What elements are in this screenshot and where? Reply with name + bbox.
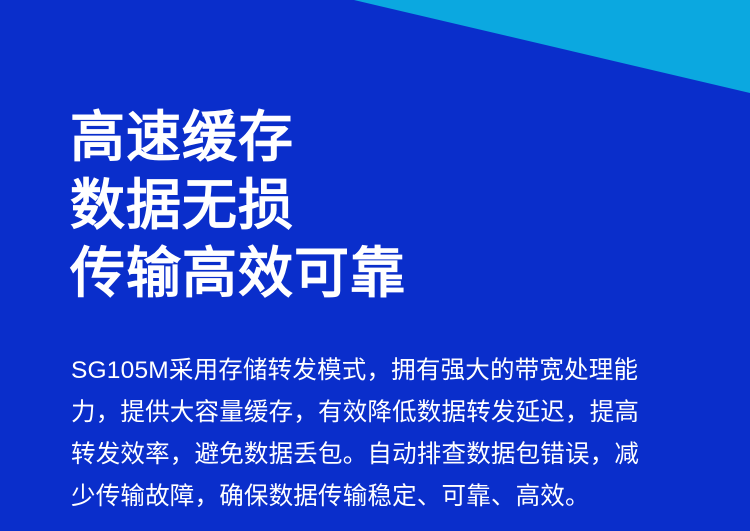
product-feature-banner: 高速缓存 数据无损 传输高效可靠 SG105M采用存储转发模式，拥有强大的带宽处… — [0, 0, 750, 531]
cyan-diagonal-wedge — [354, 0, 750, 93]
body-description: SG105M采用存储转发模式，拥有强大的带宽处理能 力，提供大容量缓存，有效降低… — [71, 350, 691, 518]
headline-line-1: 高速缓存 — [70, 103, 406, 171]
headline-line-2: 数据无损 — [70, 171, 406, 239]
headline-line-3: 传输高效可靠 — [70, 239, 406, 307]
headline: 高速缓存 数据无损 传输高效可靠 — [70, 103, 406, 307]
body-line-3: 转发效率，避免数据丢包。自动排查数据包错误，减 — [71, 434, 691, 476]
body-line-2: 力，提供大容量缓存，有效降低数据转发延迟，提高 — [71, 392, 691, 434]
body-line-4: 少传输故障，确保数据传输稳定、可靠、高效。 — [71, 476, 691, 518]
body-line-1: SG105M采用存储转发模式，拥有强大的带宽处理能 — [71, 350, 691, 392]
